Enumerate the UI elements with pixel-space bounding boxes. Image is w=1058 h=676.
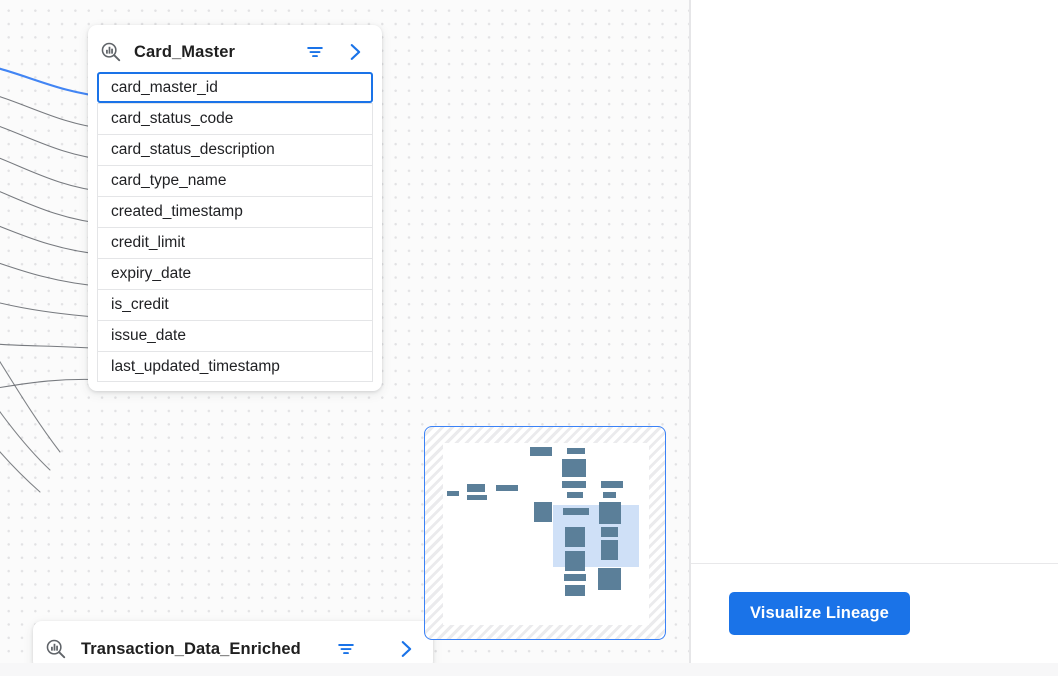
minimap-node bbox=[565, 585, 585, 596]
filter-icon[interactable] bbox=[333, 636, 359, 662]
lineage-canvas[interactable]: Card_Master card_master_idcard_status_co… bbox=[0, 0, 689, 676]
table-node-header[interactable]: Card_Master bbox=[97, 32, 373, 72]
minimap-node bbox=[564, 574, 586, 581]
minimap-content bbox=[443, 443, 649, 625]
column-row[interactable]: issue_date bbox=[97, 320, 373, 351]
column-row[interactable]: created_timestamp bbox=[97, 196, 373, 227]
lineage-edge bbox=[0, 300, 60, 452]
lineage-edge bbox=[0, 352, 50, 470]
details-panel-body bbox=[691, 0, 1058, 563]
data-profile-search-icon bbox=[100, 41, 122, 63]
chevron-right-icon[interactable] bbox=[393, 636, 419, 662]
minimap-node bbox=[562, 481, 586, 488]
minimap-node bbox=[601, 540, 618, 560]
minimap-node bbox=[567, 448, 585, 454]
column-row[interactable]: expiry_date bbox=[97, 258, 373, 289]
minimap-node bbox=[567, 492, 583, 498]
column-row[interactable]: card_status_description bbox=[97, 134, 373, 165]
lineage-explorer-app: Card_Master card_master_idcard_status_co… bbox=[0, 0, 1058, 676]
minimap-node bbox=[565, 527, 585, 547]
column-row[interactable]: credit_limit bbox=[97, 227, 373, 258]
minimap-node bbox=[601, 527, 618, 537]
minimap-node bbox=[603, 492, 616, 498]
minimap-node bbox=[565, 551, 585, 571]
chevron-right-icon[interactable] bbox=[342, 39, 368, 65]
filter-icon[interactable] bbox=[302, 39, 328, 65]
column-list: card_master_idcard_status_codecard_statu… bbox=[97, 72, 373, 382]
minimap-node bbox=[447, 491, 459, 496]
table-node-title: Transaction_Data_Enriched bbox=[81, 640, 333, 659]
table-node-title: Card_Master bbox=[134, 43, 302, 62]
data-profile-search-icon bbox=[45, 638, 67, 660]
minimap-node bbox=[530, 447, 552, 456]
minimap-node bbox=[534, 502, 552, 522]
minimap-node bbox=[467, 484, 485, 492]
lineage-edge bbox=[0, 398, 40, 492]
minimap-node bbox=[601, 481, 623, 488]
details-panel-footer: Visualize Lineage bbox=[691, 563, 1058, 663]
column-row[interactable]: is_credit bbox=[97, 289, 373, 320]
column-row[interactable]: last_updated_timestamp bbox=[97, 351, 373, 382]
column-row[interactable]: card_type_name bbox=[97, 165, 373, 196]
table-node-card-master[interactable]: Card_Master card_master_idcard_status_co… bbox=[88, 25, 382, 391]
column-row[interactable]: card_master_id bbox=[97, 72, 373, 103]
graph-minimap[interactable] bbox=[424, 426, 666, 640]
bottom-status-strip bbox=[0, 663, 1058, 676]
visualize-lineage-button[interactable]: Visualize Lineage bbox=[729, 592, 910, 635]
minimap-node bbox=[563, 508, 589, 515]
minimap-node bbox=[562, 459, 586, 477]
minimap-node bbox=[598, 568, 621, 590]
minimap-node bbox=[496, 485, 518, 491]
minimap-node bbox=[467, 495, 487, 500]
minimap-node bbox=[599, 502, 621, 524]
details-panel: Visualize Lineage bbox=[691, 0, 1058, 676]
column-row[interactable]: card_status_code bbox=[97, 103, 373, 134]
